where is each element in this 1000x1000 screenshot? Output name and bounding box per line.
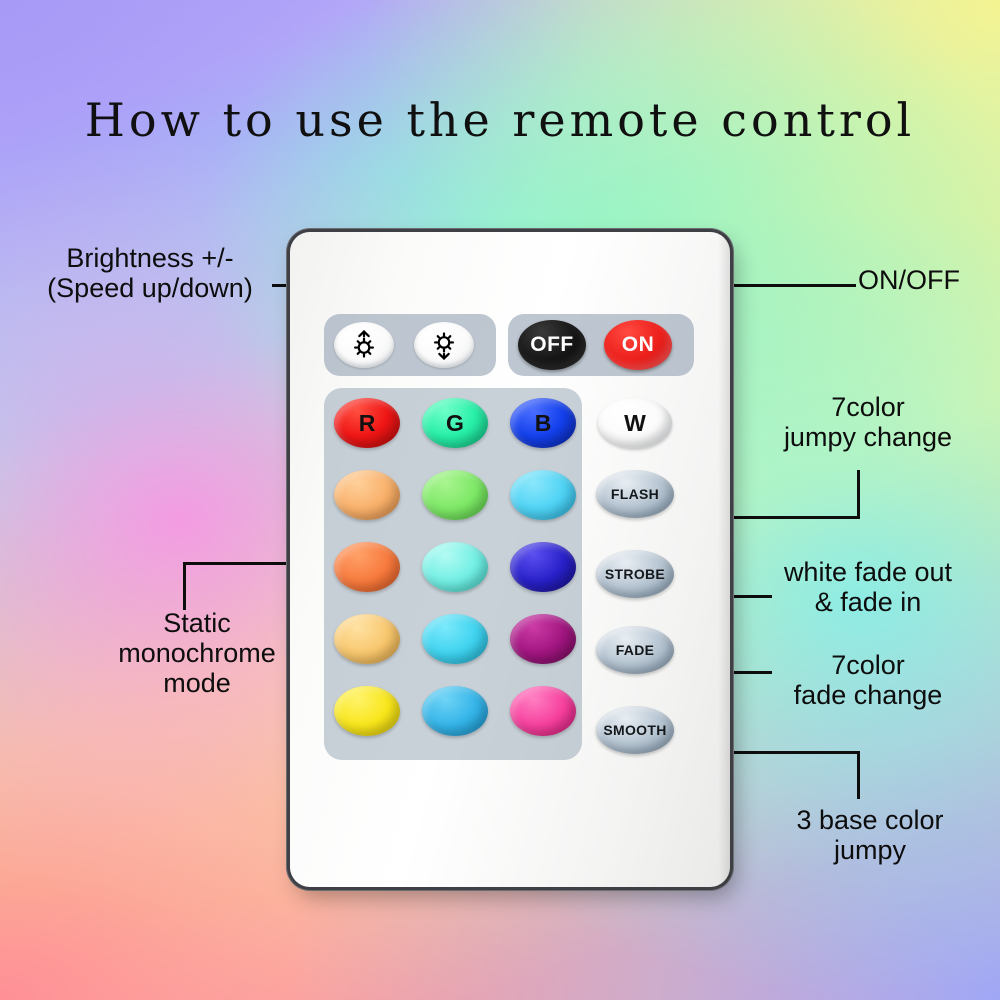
color-button-aqua[interactable]	[422, 542, 488, 592]
color-button-amber[interactable]	[334, 614, 400, 664]
fade-button[interactable]: FADE	[596, 626, 674, 674]
brightness-up-button[interactable]	[334, 322, 394, 368]
connector-smooth-v	[857, 751, 860, 799]
callout-static-mode: Static monochrome mode	[92, 608, 302, 699]
color-button-green-light[interactable]	[422, 470, 488, 520]
color-button-magenta-dark[interactable]	[510, 614, 576, 664]
color-button-green[interactable]: G	[422, 398, 488, 448]
color-button-orange-light[interactable]	[334, 470, 400, 520]
callout-fade: 7color fade change	[748, 650, 988, 710]
off-button[interactable]: OFF	[518, 320, 586, 370]
callout-onoff: ON/OFF	[858, 265, 960, 295]
color-button-red[interactable]: R	[334, 398, 400, 448]
callout-flash: 7color jumpy change	[748, 392, 988, 452]
sun-up-icon	[347, 328, 381, 362]
strobe-button[interactable]: STROBE	[596, 550, 674, 598]
color-button-white[interactable]: W	[598, 398, 672, 448]
color-button-sky[interactable]	[422, 614, 488, 664]
callout-brightness: Brightness +/- (Speed up/down)	[10, 243, 290, 303]
callout-strobe: white fade out & fade in	[744, 557, 992, 617]
connector-flash-v	[857, 470, 860, 519]
sun-down-icon	[427, 328, 461, 362]
page-title: How to use the remote control	[0, 93, 1000, 147]
color-button-pink[interactable]	[510, 686, 576, 736]
flash-button[interactable]: FLASH	[596, 470, 674, 518]
brightness-down-button[interactable]	[414, 322, 474, 368]
color-button-yellow[interactable]	[334, 686, 400, 736]
color-button-orange[interactable]	[334, 542, 400, 592]
color-button-blue[interactable]: B	[510, 398, 576, 448]
callout-smooth: 3 base color jumpy	[754, 805, 986, 865]
color-button-indigo[interactable]	[510, 542, 576, 592]
smooth-button[interactable]: SMOOTH	[596, 706, 674, 754]
remote-control-body: OFF ON R G B W FLASH STROBE FADE SMOOTH	[290, 232, 730, 887]
on-button[interactable]: ON	[604, 320, 672, 370]
color-button-cyan-light[interactable]	[510, 470, 576, 520]
color-button-blue-light[interactable]	[422, 686, 488, 736]
connector-static-v	[183, 562, 186, 610]
